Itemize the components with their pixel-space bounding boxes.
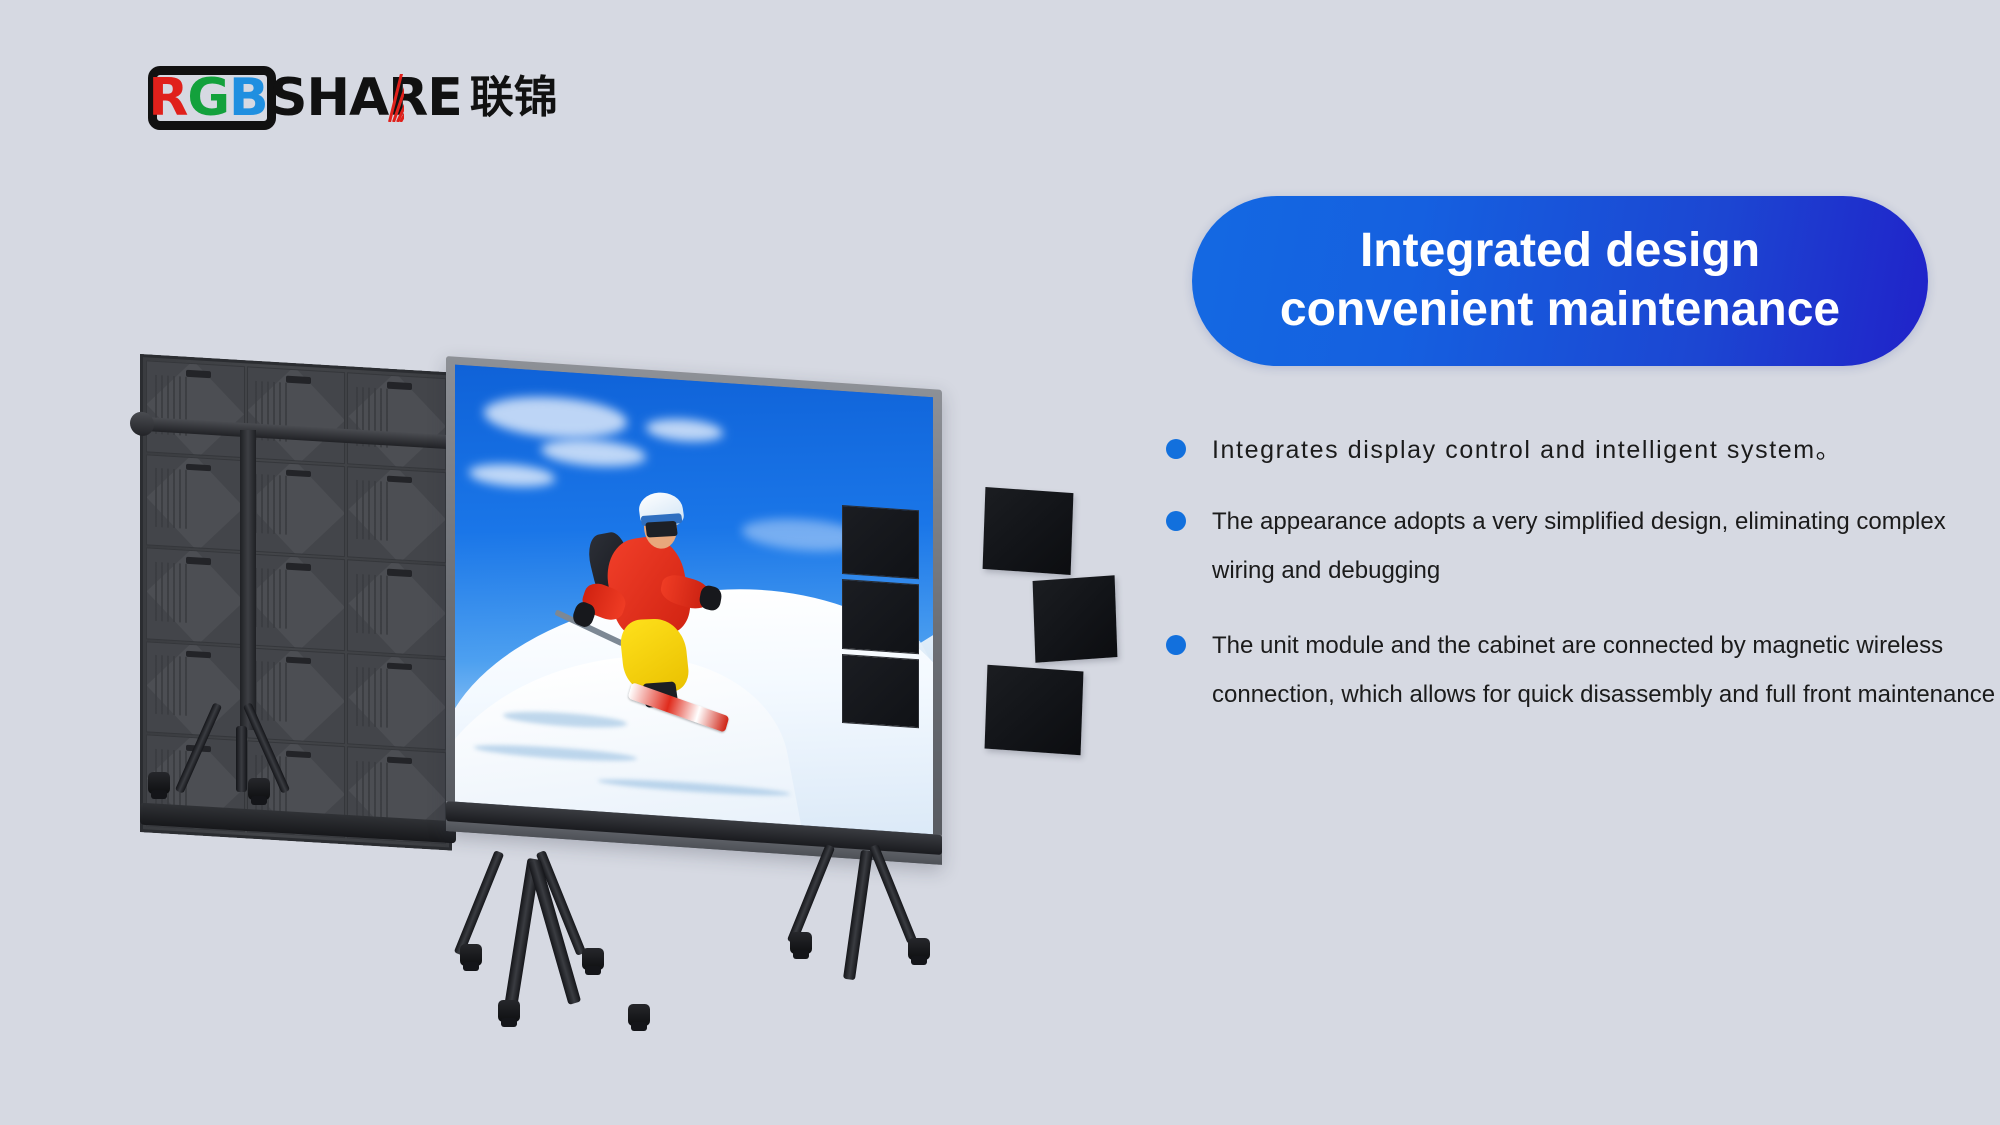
banner-line-1: Integrated design — [1360, 222, 1760, 281]
empty-module-slot — [842, 654, 918, 729]
detached-led-module — [983, 487, 1074, 575]
module-handle-icon — [286, 563, 311, 571]
bullet-dot-icon — [1166, 439, 1186, 459]
feature-bullet-item: Integrates display control and intellige… — [1166, 430, 1996, 471]
rear-module-cell — [146, 360, 245, 457]
removed-module-slots — [842, 505, 918, 729]
feature-bullet-text: The appearance adopts a very simplified … — [1212, 497, 1996, 595]
led-display-front: RGB SHARE — [446, 356, 942, 865]
rear-module-cell — [146, 454, 245, 551]
stand-caster — [790, 932, 812, 954]
stand-caster — [248, 778, 270, 800]
rear-module-cell — [347, 653, 446, 750]
rear-module-cell — [247, 366, 346, 463]
title-banner: Integrated design convenient maintenance — [1192, 196, 1928, 366]
bullet-dot-icon — [1166, 511, 1186, 531]
stand-caster — [908, 938, 930, 960]
skier-right-glove — [698, 584, 723, 613]
module-handle-icon — [286, 376, 311, 384]
module-handle-icon — [186, 464, 211, 472]
logo-letter-r: R — [148, 68, 187, 128]
module-handle-icon — [387, 476, 412, 484]
stand-leg — [787, 844, 835, 944]
feature-bullet-text: Integrates display control and intellige… — [1212, 430, 1842, 471]
stand-caster — [582, 948, 604, 970]
stand-caster — [460, 944, 482, 966]
module-handle-icon — [186, 557, 211, 565]
rear-module-cell — [146, 641, 245, 738]
logo-bracket-frame: RGB — [148, 66, 276, 130]
rear-module-cell — [347, 560, 446, 657]
stand-caster — [628, 1004, 650, 1026]
logo-rgb-text: RGB — [148, 72, 267, 124]
module-handle-icon — [286, 657, 311, 665]
module-handle-icon — [186, 370, 211, 378]
rear-module-cell — [247, 460, 346, 557]
led-screen-content — [455, 365, 933, 835]
empty-module-slot — [842, 579, 918, 654]
empty-module-slot — [842, 505, 918, 580]
stand-caster — [498, 1000, 520, 1022]
logo-letter-b: B — [229, 68, 268, 128]
module-handle-icon — [286, 470, 311, 478]
detached-led-module — [985, 665, 1084, 756]
feature-bullet-item: The unit module and the cabinet are conn… — [1166, 621, 1996, 719]
cabinet-rear-column — [240, 430, 256, 730]
stand-leg — [843, 850, 873, 980]
feature-bullet-text: The unit module and the cabinet are conn… — [1212, 621, 1996, 719]
module-handle-icon — [387, 382, 412, 390]
rear-module-cell — [347, 466, 446, 563]
feature-bullet-item: The appearance adopts a very simplified … — [1166, 497, 1996, 595]
feature-bullet-list: Integrates display control and intellige… — [1166, 430, 1996, 745]
stand-caster — [148, 772, 170, 794]
skier-figure — [579, 487, 742, 743]
stand-leg — [454, 850, 504, 956]
module-handle-icon — [387, 756, 412, 764]
skier-goggles — [645, 521, 677, 537]
detached-led-module — [1033, 575, 1118, 663]
led-display-product-scene: RGB SHARE — [0, 0, 1100, 1125]
banner-line-2: convenient maintenance — [1280, 281, 1840, 340]
rear-module-cell — [347, 372, 446, 469]
bullet-dot-icon — [1166, 635, 1186, 655]
module-handle-icon — [387, 569, 412, 577]
module-handle-icon — [286, 750, 311, 758]
module-handle-icon — [186, 651, 211, 659]
module-handle-icon — [387, 663, 412, 671]
rear-module-cell — [247, 554, 346, 651]
logo-letter-g: G — [187, 68, 229, 128]
rear-module-cell — [146, 548, 245, 645]
stand-leg — [236, 726, 247, 792]
